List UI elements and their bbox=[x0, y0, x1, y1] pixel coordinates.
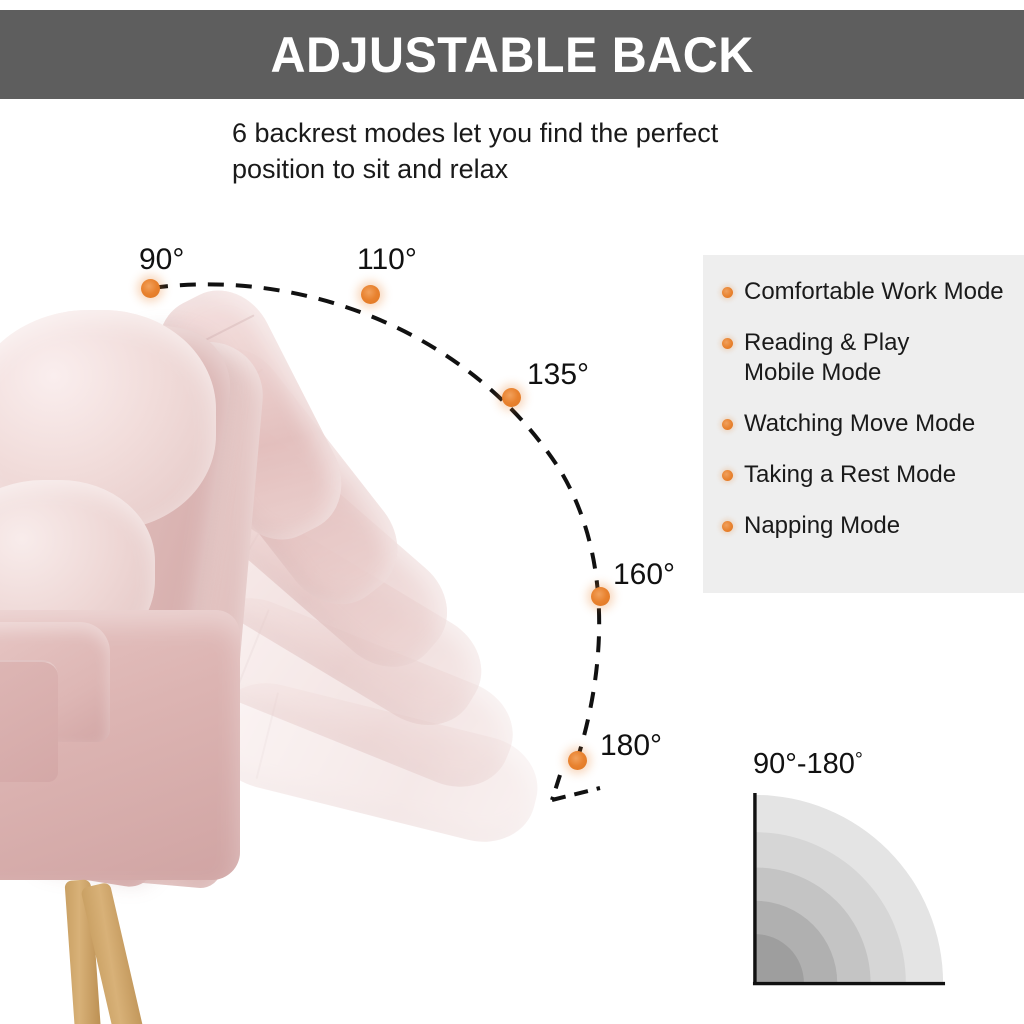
mode-label-line: Comfortable Work Mode bbox=[744, 277, 1004, 308]
side-pocket bbox=[0, 660, 58, 782]
header-bar: ADJUSTABLE BACK bbox=[0, 10, 1024, 99]
mode-label-line: Napping Mode bbox=[744, 511, 900, 542]
angle-label-135: 135° bbox=[527, 358, 589, 392]
angle-label-180: 180° bbox=[600, 729, 662, 763]
mode-list: Comfortable Work Mode Reading & Play Mob… bbox=[722, 277, 1018, 561]
quarter-circle-diagram bbox=[751, 791, 947, 987]
mode-label: Comfortable Work Mode bbox=[744, 277, 1004, 308]
bullet-dot-icon bbox=[722, 338, 733, 349]
mode-label: Reading & Play Mobile Mode bbox=[744, 328, 909, 389]
angle-marker-dot-180[interactable] bbox=[568, 751, 587, 770]
mode-label-line: Taking a Rest Mode bbox=[744, 460, 956, 491]
angle-range-badge: 90°-180° bbox=[745, 748, 975, 998]
bullet-dot-icon bbox=[722, 287, 733, 298]
bullet-dot-icon bbox=[722, 470, 733, 481]
degree-symbol-icon: ° bbox=[855, 749, 863, 771]
mode-label-line: Watching Move Mode bbox=[744, 409, 975, 440]
subtitle-line-1: 6 backrest modes let you find the perfec… bbox=[232, 116, 852, 152]
angle-label-110: 110° bbox=[357, 243, 417, 277]
mode-label: Taking a Rest Mode bbox=[744, 460, 956, 491]
chair-product-photo bbox=[0, 190, 700, 1024]
mode-label-line: Mobile Mode bbox=[744, 358, 909, 389]
bullet-dot-icon bbox=[722, 419, 733, 430]
mode-list-panel: Comfortable Work Mode Reading & Play Mob… bbox=[703, 255, 1024, 593]
angle-label-160: 160° bbox=[613, 558, 675, 592]
angle-label-90: 90° bbox=[139, 243, 184, 277]
bullet-dot-icon bbox=[722, 521, 733, 532]
angle-range-label: 90°-180° bbox=[753, 748, 863, 781]
subtitle-line-2: position to sit and relax bbox=[232, 152, 852, 188]
angle-marker-dot-110[interactable] bbox=[361, 285, 380, 304]
angle-range-value: 90°-180 bbox=[753, 748, 855, 780]
quarter-circle-svg bbox=[751, 791, 947, 987]
list-item[interactable]: Watching Move Mode bbox=[722, 409, 1018, 440]
list-item[interactable]: Taking a Rest Mode bbox=[722, 460, 1018, 491]
angle-marker-dot-90[interactable] bbox=[141, 279, 160, 298]
mode-label-line: Reading & Play bbox=[744, 328, 909, 359]
list-item[interactable]: Comfortable Work Mode bbox=[722, 277, 1018, 308]
angle-marker-dot-135[interactable] bbox=[502, 388, 521, 407]
mode-label: Napping Mode bbox=[744, 511, 900, 542]
list-item[interactable]: Reading & Play Mobile Mode bbox=[722, 328, 1018, 389]
angle-marker-dot-160[interactable] bbox=[591, 587, 610, 606]
mode-label: Watching Move Mode bbox=[744, 409, 975, 440]
page-title: ADJUSTABLE BACK bbox=[270, 26, 753, 84]
list-item[interactable]: Napping Mode bbox=[722, 511, 1018, 542]
subtitle: 6 backrest modes let you find the perfec… bbox=[232, 116, 852, 187]
